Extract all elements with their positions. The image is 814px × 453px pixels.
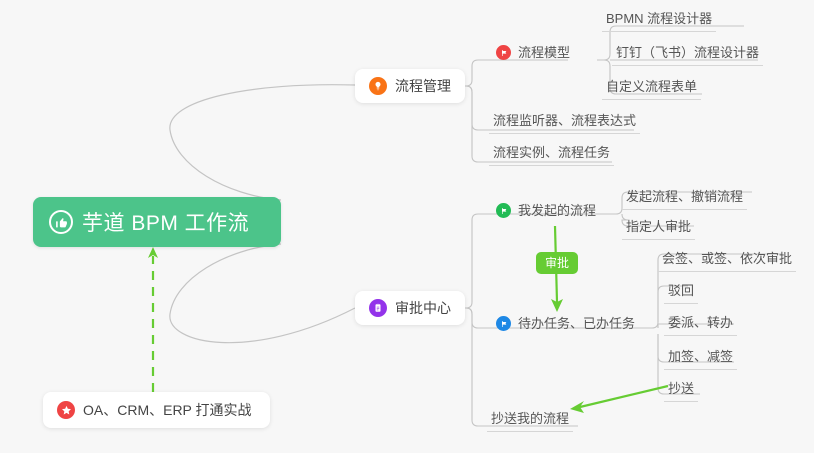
branch-node-approval-center[interactable]: 审批中心 [355,291,465,325]
leaf-delegate-transfer[interactable]: 委派、转办 [664,314,737,336]
leaf-label: 流程监听器、流程表达式 [493,112,636,129]
wire-root-to-process [170,85,355,200]
leaf-instance-task[interactable]: 流程实例、流程任务 [489,144,614,166]
leaf-my-initiated[interactable]: 我发起的流程 [496,202,600,223]
leaf-label: 委派、转办 [668,314,733,331]
leaf-add-remove-sign[interactable]: 加签、减签 [664,348,737,370]
wire-cc-to-ccmine-arrow [570,386,668,413]
leaf-process-model[interactable]: 流程模型 [496,44,574,65]
branch-node-process-management[interactable]: 流程管理 [355,69,465,103]
leaf-label: 抄送我的流程 [491,410,569,427]
approval-step-badge: 审批 [536,252,578,274]
leaf-dingtalk-designer[interactable]: 钉钉（飞书）流程设计器 [612,44,763,66]
leaf-label: 发起流程、撤销流程 [626,188,743,205]
flag-red-icon [496,45,511,60]
branch-label-approval-center: 审批中心 [395,298,451,318]
root-node-label: 芋道 BPM 工作流 [82,207,249,237]
wire-oa-to-root [148,247,158,392]
thumbs-up-icon [49,210,73,234]
clipboard-icon [369,299,387,317]
leaf-countersign[interactable]: 会签、或签、依次审批 [658,250,796,272]
leaf-label: BPMN 流程设计器 [606,10,712,27]
leaf-cc[interactable]: 抄送 [664,380,698,402]
leaf-cc-to-me[interactable]: 抄送我的流程 [487,410,573,432]
root-node[interactable]: 芋道 BPM 工作流 [33,197,281,247]
annotation-card-oa-integration[interactable]: OA、CRM、ERP 打通实战 [43,392,270,428]
wire-root-to-approval [170,244,355,343]
branch-label-process-management: 流程管理 [395,76,451,96]
leaf-todo-done-tasks[interactable]: 待办任务、已办任务 [496,315,639,336]
leaf-start-cancel-process[interactable]: 发起流程、撤销流程 [622,188,747,210]
star-icon [57,401,75,419]
leaf-bpmn-designer[interactable]: BPMN 流程设计器 [602,10,716,32]
leaf-label: 指定人审批 [626,218,691,235]
leaf-label: 我发起的流程 [518,202,596,219]
flag-green-icon [496,203,511,218]
leaf-reject[interactable]: 驳回 [664,282,698,304]
annotation-card-label: OA、CRM、ERP 打通实战 [83,400,252,420]
leaf-label: 抄送 [668,380,694,397]
leaf-label: 驳回 [668,282,694,299]
leaf-label: 流程模型 [518,44,570,61]
leaf-label: 待办任务、已办任务 [518,315,635,332]
lightbulb-icon [369,77,387,95]
leaf-label: 流程实例、流程任务 [493,144,610,161]
mindmap-canvas: 芋道 BPM 工作流 流程管理 审批中心 OA、CRM、ERP 打通实战 审批 [0,0,814,453]
leaf-label: 加签、减签 [668,348,733,365]
leaf-label: 会签、或签、依次审批 [662,250,792,267]
leaf-label: 钉钉（飞书）流程设计器 [616,44,759,61]
leaf-listener-expression[interactable]: 流程监听器、流程表达式 [489,112,640,134]
leaf-custom-form[interactable]: 自定义流程表单 [602,78,701,100]
flag-blue-icon [496,316,511,331]
leaf-label: 自定义流程表单 [606,78,697,95]
leaf-assignee-approval[interactable]: 指定人审批 [622,218,695,240]
